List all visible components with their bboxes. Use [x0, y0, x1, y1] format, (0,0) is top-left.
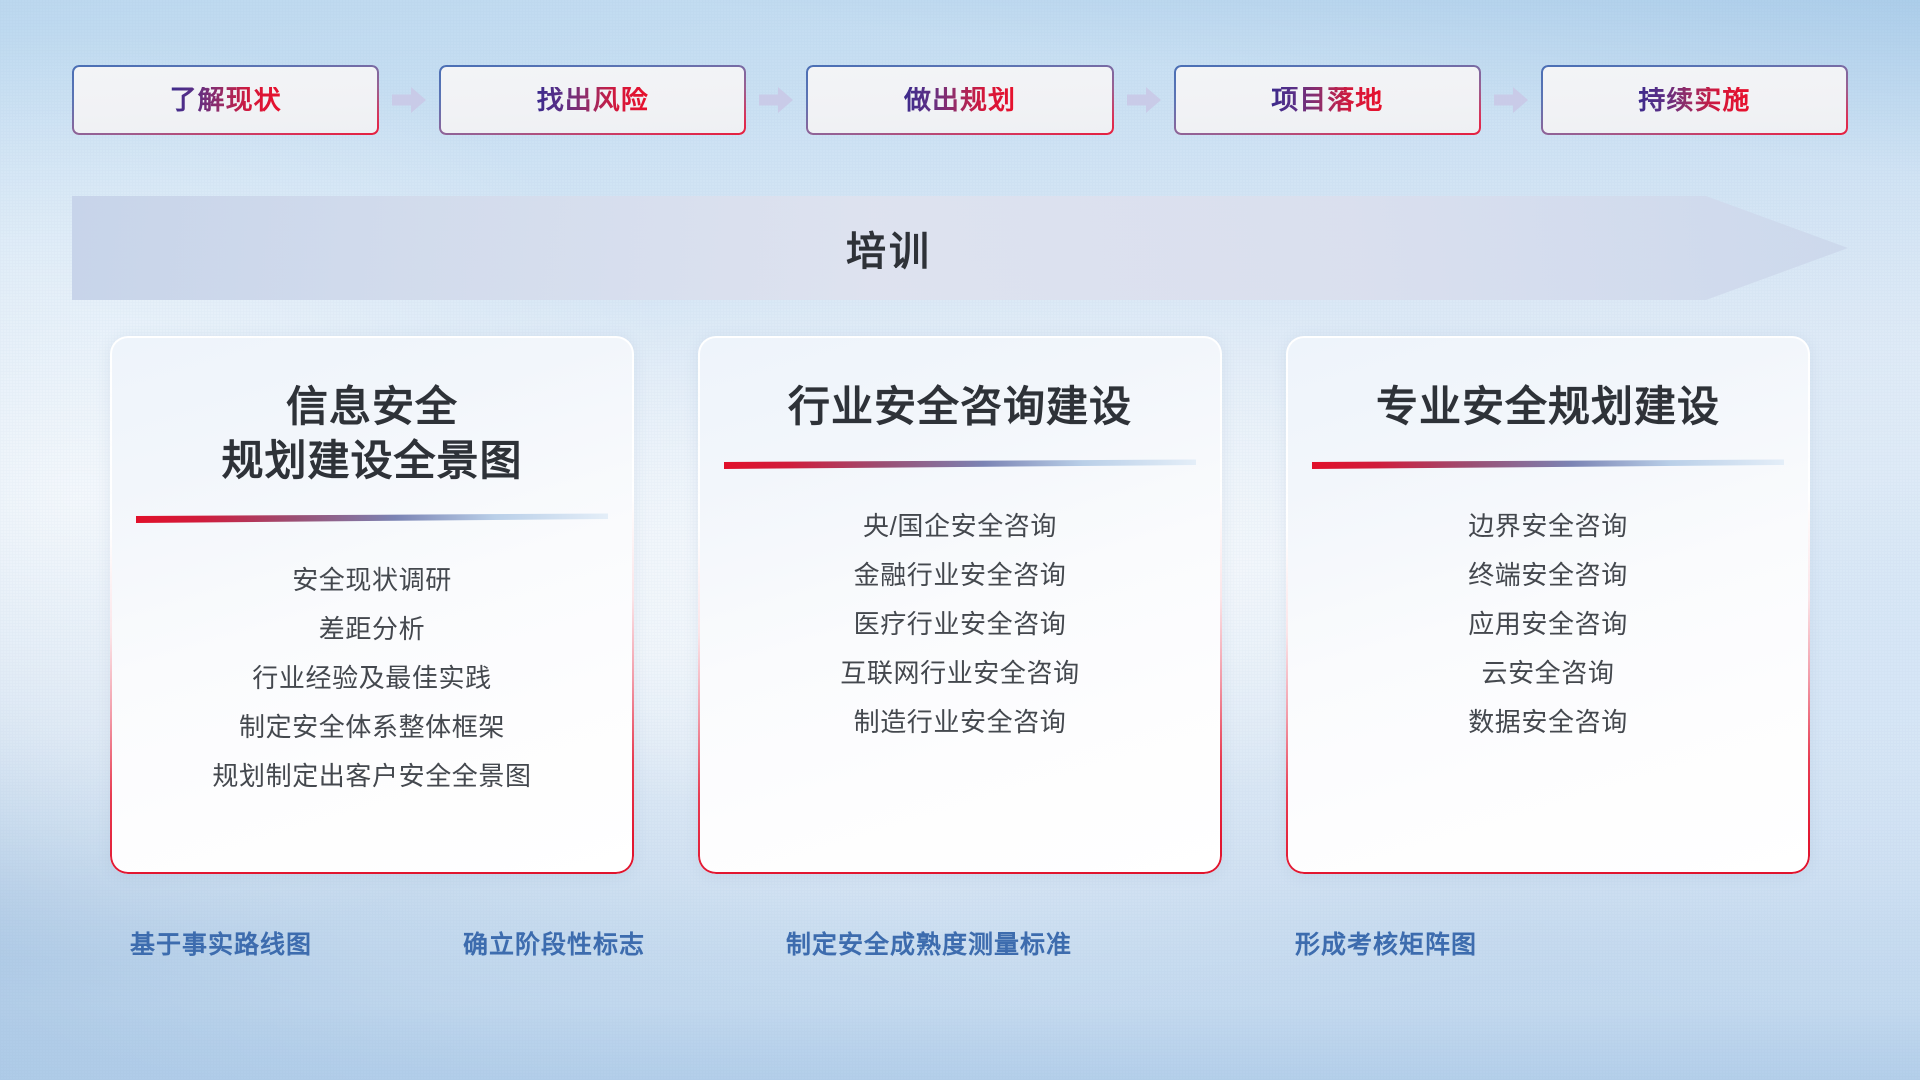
list-item[interactable]: 应用安全咨询: [1312, 600, 1784, 649]
process-step-5[interactable]: 持续实施: [1541, 65, 1848, 135]
process-connector-3: [1114, 65, 1174, 135]
tapered-divider-shape: [724, 458, 1196, 472]
list-item[interactable]: 边界安全咨询: [1312, 502, 1784, 551]
caption-matrix: 形成考核矩阵图: [1295, 925, 1477, 965]
list-item[interactable]: 云安全咨询: [1312, 649, 1784, 698]
process-step-4[interactable]: 项目落地: [1174, 65, 1481, 135]
process-step-1[interactable]: 了解现状: [72, 65, 379, 135]
process-step-label: 项目落地: [1271, 87, 1383, 114]
card-item-list: 边界安全咨询 终端安全咨询 应用安全咨询 云安全咨询 数据安全咨询: [1312, 502, 1784, 747]
list-item[interactable]: 终端安全咨询: [1312, 551, 1784, 600]
process-connector-1: [379, 65, 439, 135]
list-item[interactable]: 制定安全体系整体框架: [136, 703, 608, 752]
right-arrow-icon: [392, 87, 426, 113]
list-item[interactable]: 安全现状调研: [136, 556, 608, 605]
service-card[interactable]: 行业安全咨询建设 央/国企安全咨询 金融行业安全咨询: [698, 336, 1222, 874]
tapered-divider-shape: [1312, 458, 1784, 472]
caption-row: 基于事实路线图 确立阶段性标志 制定安全成熟度测量标准 形成考核矩阵图: [0, 925, 1920, 965]
list-item[interactable]: 医疗行业安全咨询: [724, 600, 1196, 649]
service-card[interactable]: 信息安全 规划建设全景图 安全现状调研 差距分析 行: [110, 336, 634, 874]
process-step-label: 找出风险: [537, 87, 649, 114]
list-item[interactable]: 央/国企安全咨询: [724, 502, 1196, 551]
process-step-2[interactable]: 找出风险: [439, 65, 746, 135]
list-item[interactable]: 行业经验及最佳实践: [136, 654, 608, 703]
tapered-divider-shape: [136, 512, 608, 526]
card-title: 信息安全 规划建设全景图: [221, 380, 522, 488]
caption-milestone: 确立阶段性标志: [463, 925, 645, 965]
right-arrow-icon: [1127, 87, 1161, 113]
list-item[interactable]: 制造行业安全咨询: [724, 698, 1196, 747]
card-item-list: 安全现状调研 差距分析 行业经验及最佳实践 制定安全体系整体框架 规划制定出客户…: [136, 556, 608, 801]
training-banner-label: 培训: [72, 196, 1848, 300]
card-item-list: 央/国企安全咨询 金融行业安全咨询 医疗行业安全咨询 互联网行业安全咨询 制造行…: [724, 502, 1196, 747]
card-title: 行业安全咨询建设: [788, 380, 1132, 434]
card-title: 专业安全规划建设: [1376, 380, 1720, 434]
list-item[interactable]: 互联网行业安全咨询: [724, 649, 1196, 698]
card-divider: [724, 458, 1196, 472]
service-card-row: 信息安全 规划建设全景图 安全现状调研 差距分析 行: [110, 336, 1810, 874]
right-arrow-icon: [759, 87, 793, 113]
caption-maturity: 制定安全成熟度测量标准: [786, 925, 1072, 965]
list-item[interactable]: 数据安全咨询: [1312, 698, 1784, 747]
process-step-3[interactable]: 做出规划: [806, 65, 1113, 135]
card-divider: [136, 512, 608, 526]
right-arrow-icon: [1494, 87, 1528, 113]
process-step-label: 了解现状: [170, 87, 282, 114]
process-connector-2: [746, 65, 806, 135]
service-card[interactable]: 专业安全规划建设 边界安全咨询 终端安全咨询 应用安: [1286, 336, 1810, 874]
caption-roadmap: 基于事实路线图: [130, 925, 312, 965]
card-divider: [1312, 458, 1784, 472]
list-item[interactable]: 规划制定出客户安全全景图: [136, 752, 608, 801]
training-banner: 培训: [72, 196, 1848, 300]
list-item[interactable]: 金融行业安全咨询: [724, 551, 1196, 600]
list-item[interactable]: 差距分析: [136, 605, 608, 654]
process-step-label: 做出规划: [904, 87, 1016, 114]
process-connector-4: [1481, 65, 1541, 135]
process-step-row: 了解现状 找出风险 做出规划 项目落地 持续实施: [72, 65, 1848, 135]
process-step-label: 持续实施: [1638, 87, 1750, 114]
